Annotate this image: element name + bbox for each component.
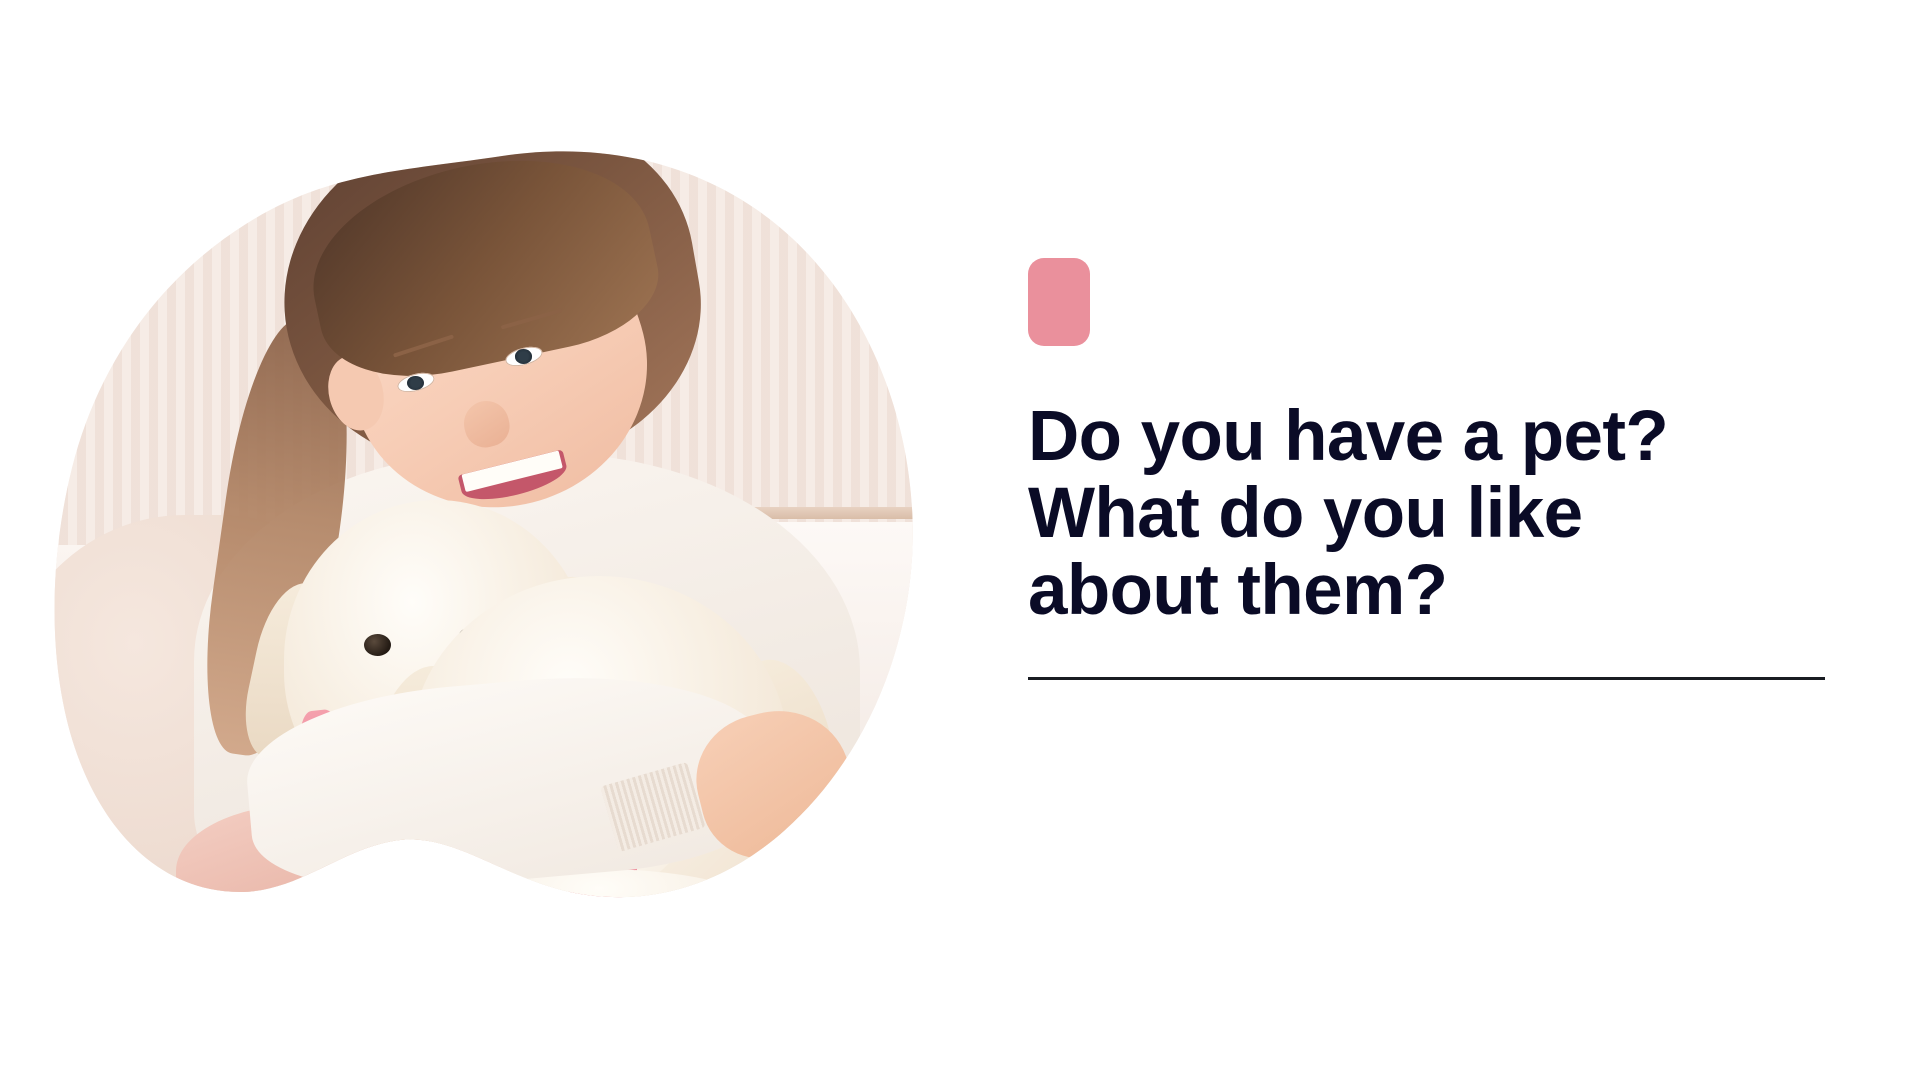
accent-bar xyxy=(1028,258,1090,346)
text-column: Do you have a pet? What do you like abou… xyxy=(1028,258,1888,680)
girl-pupil-right xyxy=(515,349,532,363)
divider-rule xyxy=(1028,677,1825,680)
slide-canvas: Do you have a pet? What do you like abou… xyxy=(0,0,1920,1080)
page-title: Do you have a pet? What do you like abou… xyxy=(1028,398,1888,629)
photo-area xyxy=(50,150,950,910)
blob-masked-photo xyxy=(50,150,950,910)
puppy-left-eye-left xyxy=(364,634,392,656)
puppy-right-chest-fur xyxy=(425,869,773,910)
